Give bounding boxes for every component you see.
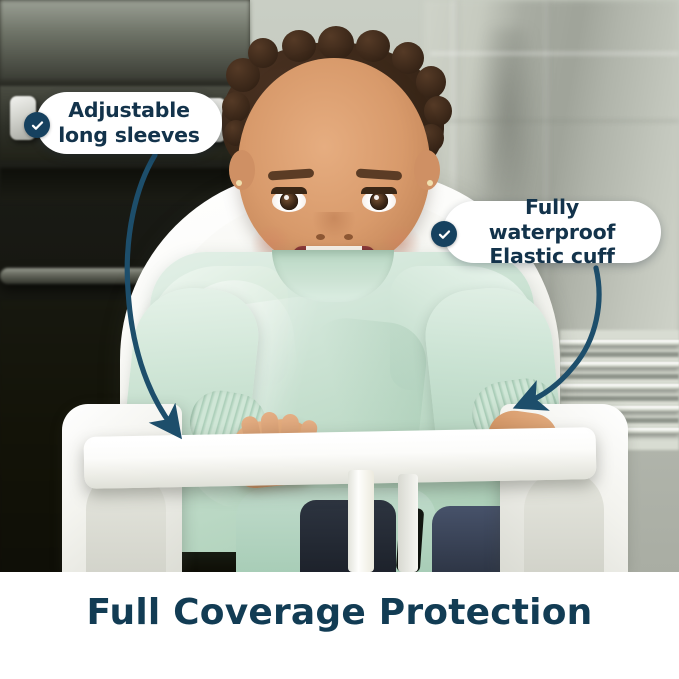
- hair-curl: [416, 66, 446, 98]
- nostril-right: [344, 234, 353, 240]
- high-chair-arch-right: [524, 470, 604, 572]
- check-circle-icon: [431, 221, 457, 247]
- tray-post: [348, 470, 374, 572]
- tray-post: [398, 474, 418, 572]
- hair-curl: [424, 96, 452, 126]
- nostril-left: [316, 234, 325, 240]
- earring-right: [427, 180, 433, 186]
- hair-curl: [356, 30, 390, 62]
- eye-glint: [284, 195, 289, 200]
- callout-label: Adjustable long sleeves: [58, 98, 200, 147]
- hair-curl: [282, 30, 316, 62]
- eye-glint: [374, 195, 379, 200]
- vent-slat: [560, 340, 679, 346]
- earring-left: [236, 180, 242, 186]
- eyelash-left: [271, 187, 307, 194]
- vent-slat: [560, 384, 679, 390]
- vent-slat-shadow: [560, 396, 679, 401]
- callout-label: Fully waterproof Elastic cuff: [461, 195, 643, 269]
- eyelash-right: [361, 187, 397, 194]
- callout-fully-waterproof-elastic-cuff[interactable]: Fully waterproof Elastic cuff: [443, 201, 661, 263]
- photo-clip-curved-edges: [0, 0, 679, 572]
- vent-slat-shadow: [560, 352, 679, 357]
- product-feature-image: Adjustable long sleeves Fully waterproof…: [0, 0, 679, 679]
- vent-slat: [560, 362, 679, 368]
- photo-frame: [0, 0, 679, 572]
- lifestyle-photo: [0, 0, 679, 572]
- hair-curl: [318, 26, 354, 60]
- headline-caption: Full Coverage Protection: [0, 592, 679, 633]
- check-circle-icon: [24, 112, 50, 138]
- hair-curl: [222, 92, 250, 122]
- cabinet-edge-line: [430, 120, 679, 122]
- oven-cooktop: [0, 0, 250, 80]
- callout-adjustable-long-sleeves[interactable]: Adjustable long sleeves: [36, 92, 222, 154]
- cabinet-edge-line: [430, 52, 679, 55]
- oven-trim: [0, 168, 246, 202]
- child-ear-left: [229, 150, 255, 190]
- hair-curl: [392, 42, 424, 74]
- vent-slat-shadow: [560, 374, 679, 379]
- hair-curl: [248, 38, 278, 68]
